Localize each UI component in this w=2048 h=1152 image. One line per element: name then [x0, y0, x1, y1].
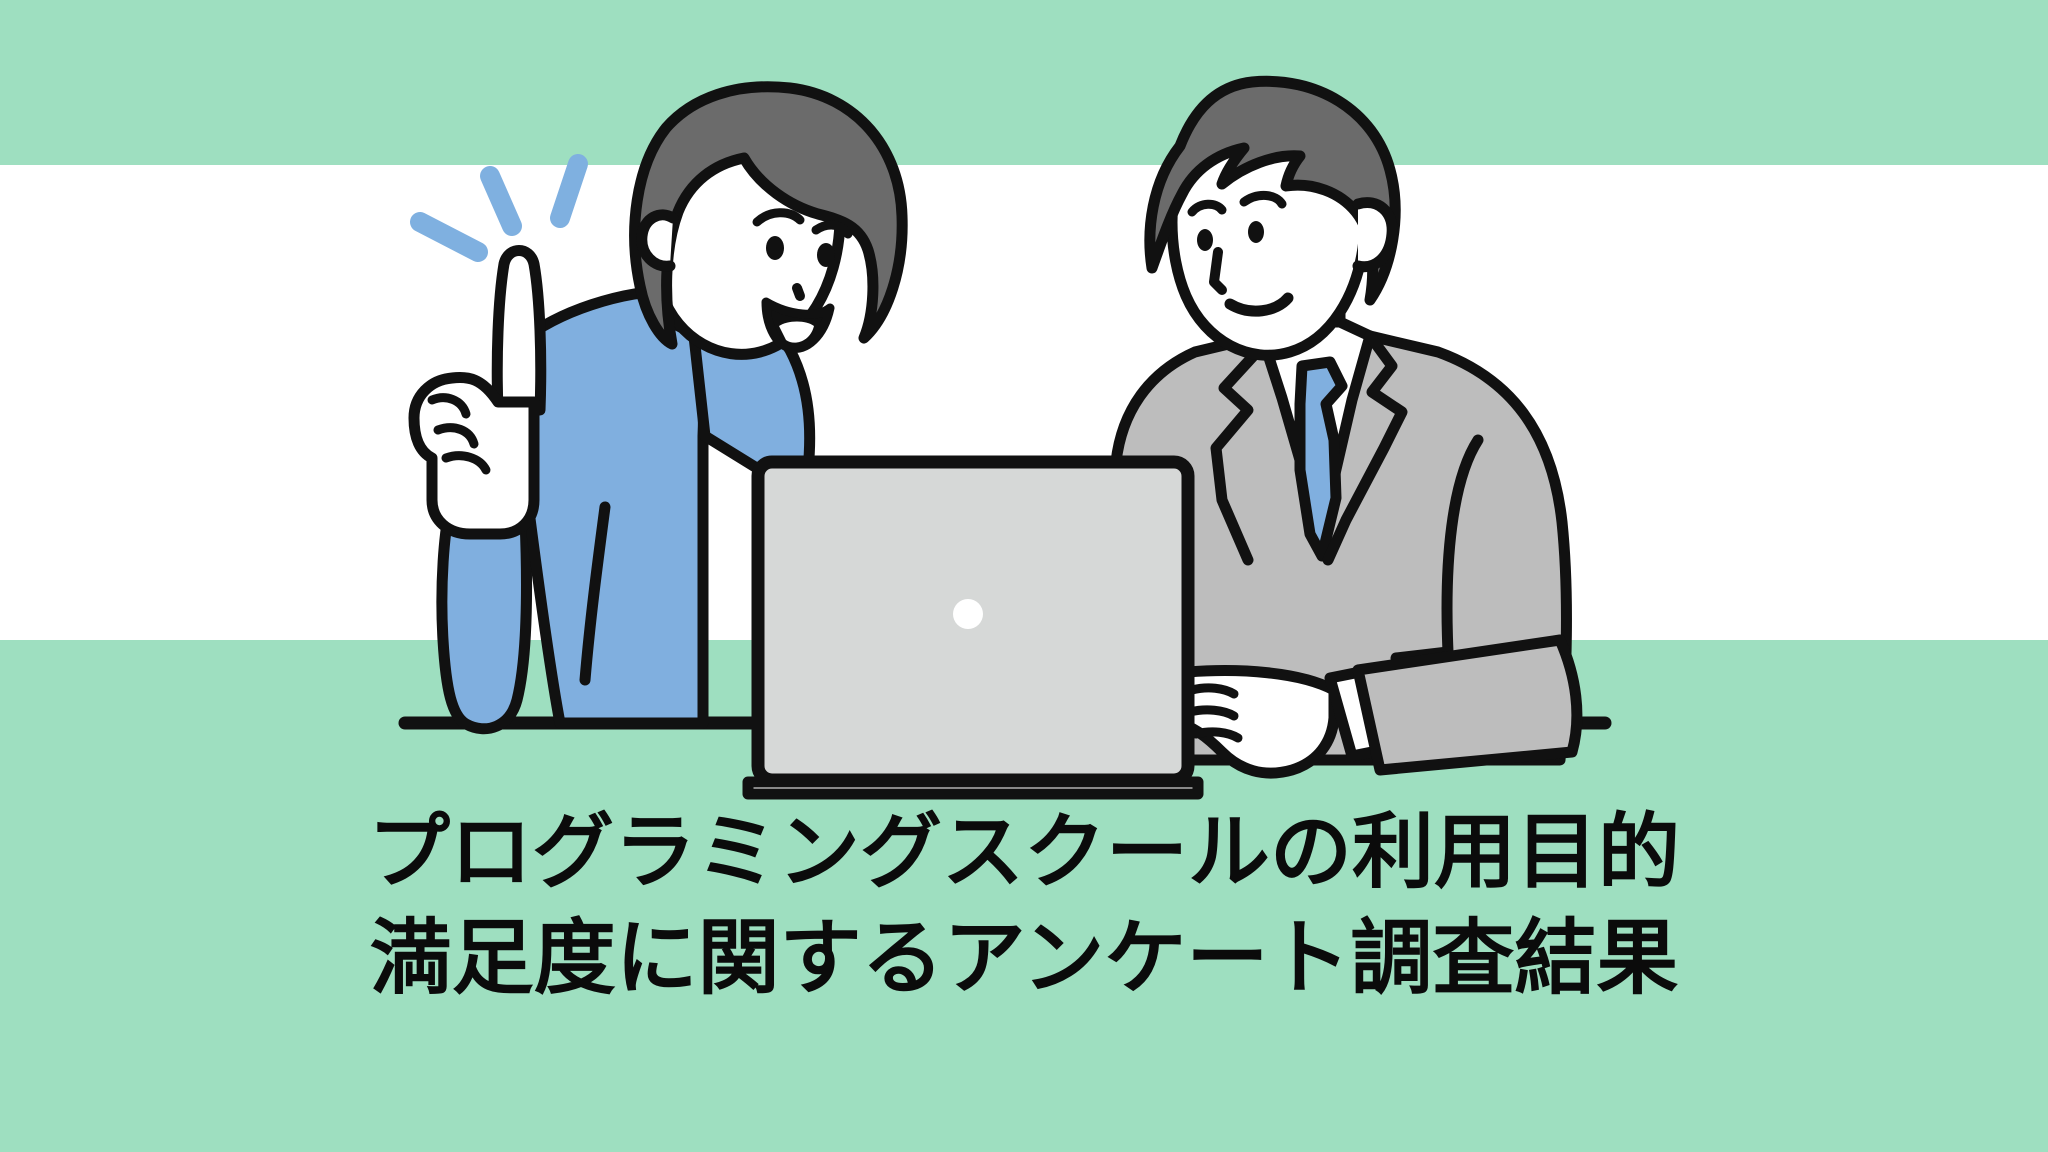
title-line-1: プログラミングスクールの利用目的	[0, 800, 2048, 906]
title-line-2: 満足度に関するアンケート調査結果	[0, 906, 2048, 1012]
banner-title: プログラミングスクールの利用目的 満足度に関するアンケート調査結果	[0, 800, 2048, 1012]
background-band-top-green	[0, 0, 2048, 165]
background-band-white	[0, 165, 2048, 640]
banner-image: プログラミングスクールの利用目的 満足度に関するアンケート調査結果	[0, 0, 2048, 1152]
